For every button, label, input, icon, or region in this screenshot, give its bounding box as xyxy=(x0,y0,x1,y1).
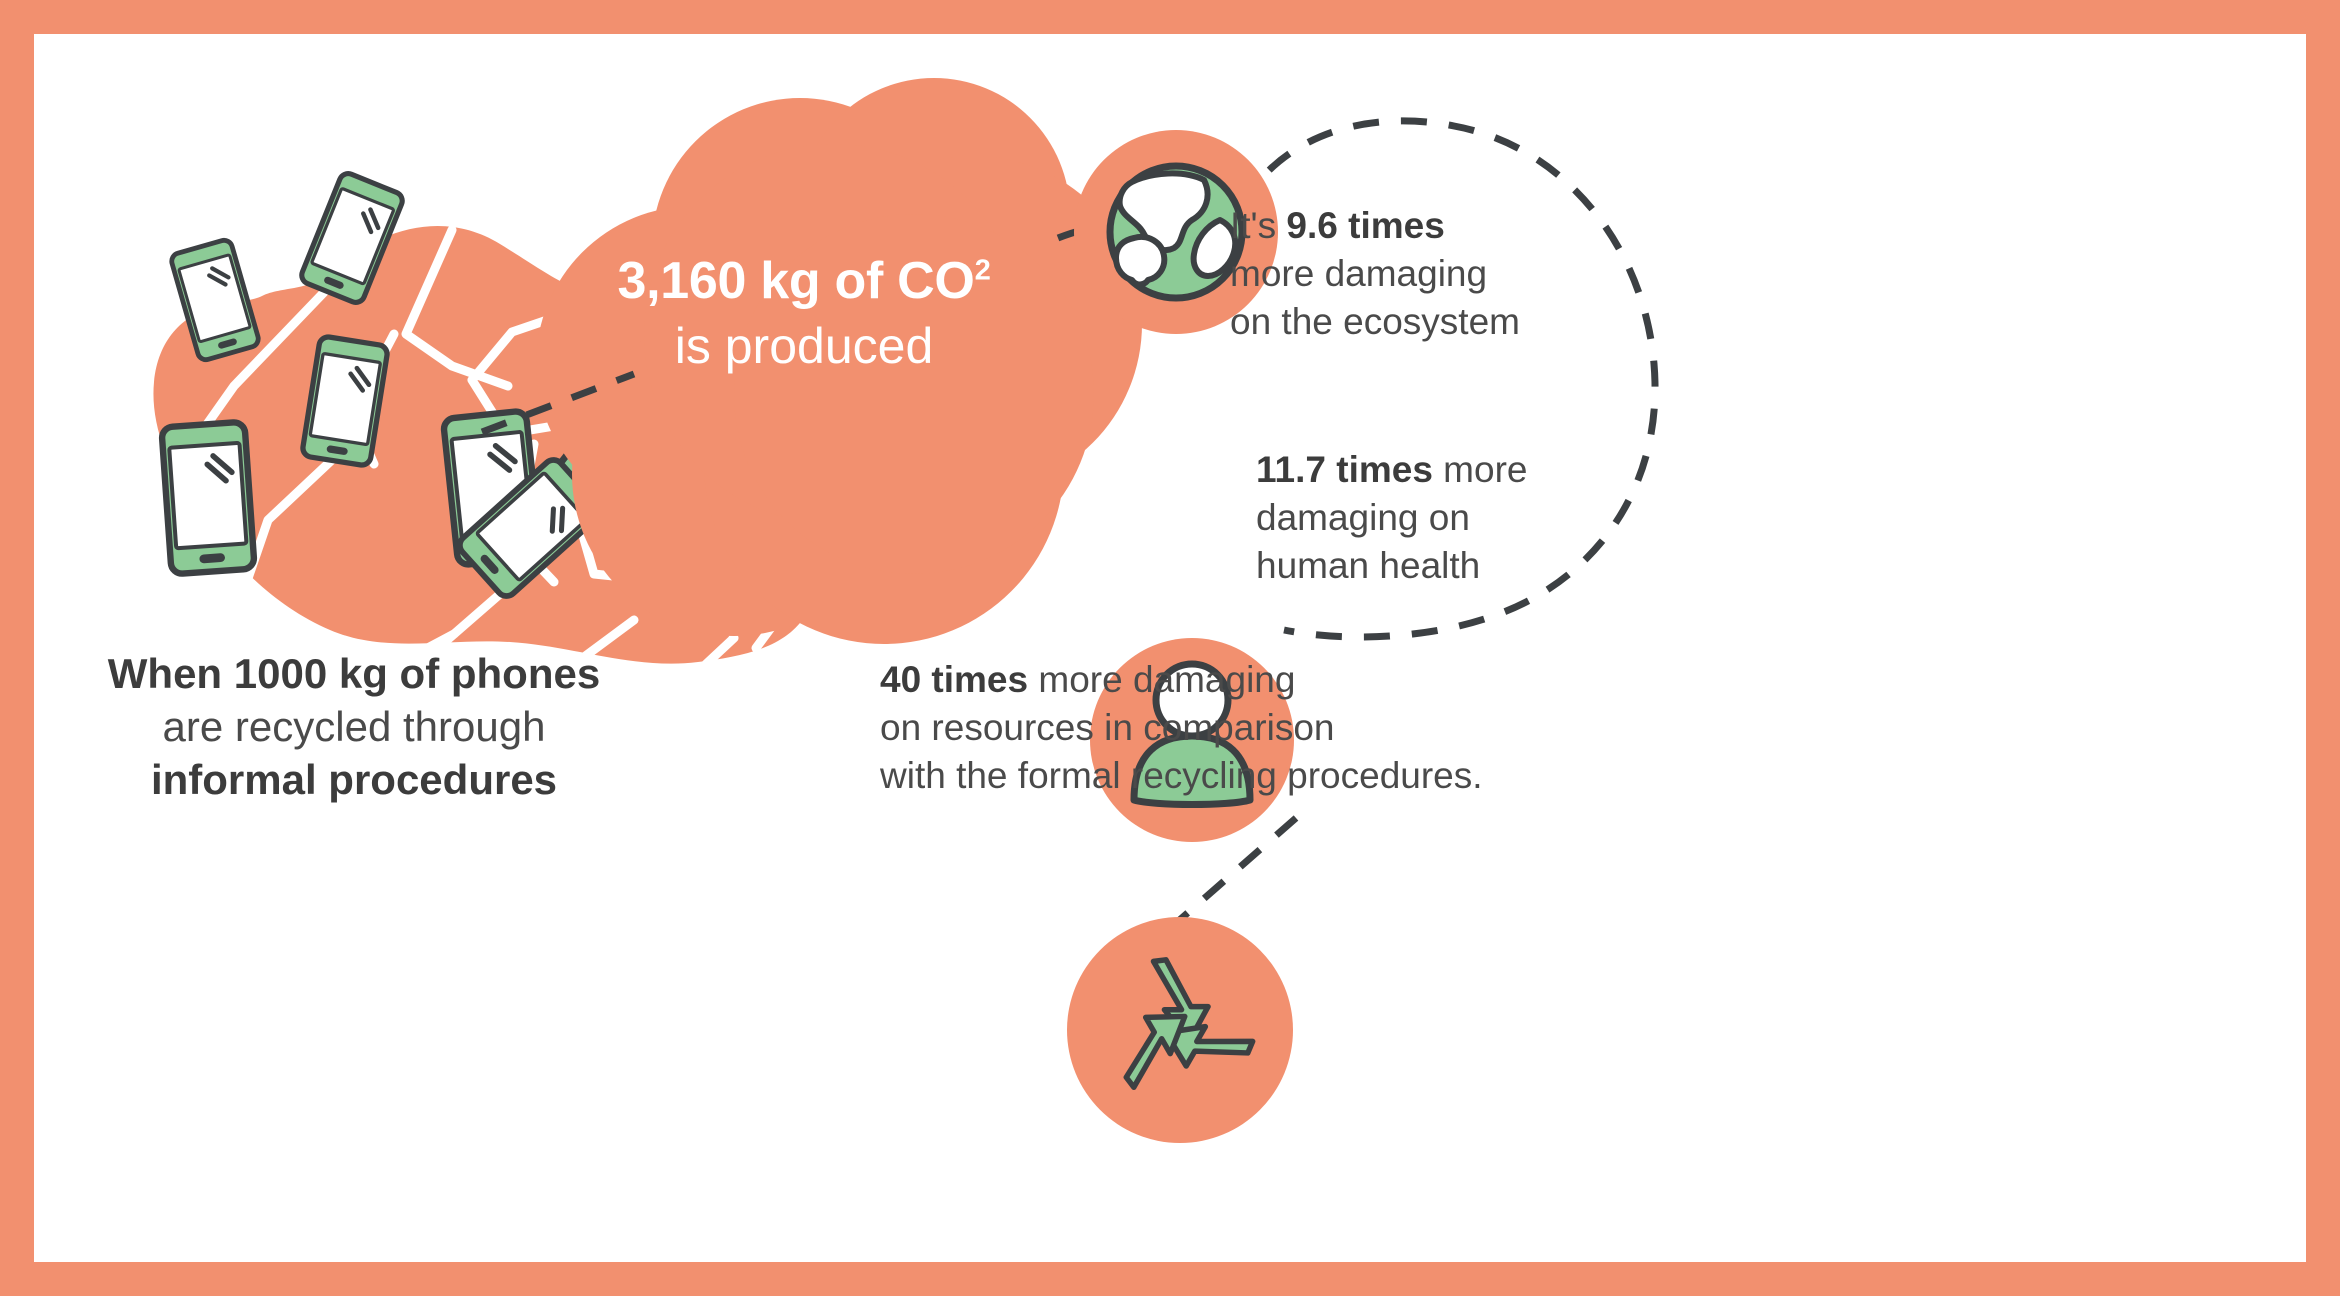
callout-ecosystem: It's 9.6 times more damaging on the ecos… xyxy=(1230,202,1710,346)
pile-caption-line1: When 1000 kg of phones xyxy=(108,650,600,697)
callout-human-health-line1-rest: more xyxy=(1433,449,1528,490)
cloud-text-block: 3,160 kg of CO2 is produced xyxy=(554,252,1054,374)
callout-human-health-line2: damaging on xyxy=(1256,497,1470,538)
pile-caption-line2: are recycled through xyxy=(163,703,546,750)
pile-caption: When 1000 kg of phones are recycled thro… xyxy=(74,648,634,807)
co2-subline: is produced xyxy=(554,318,1054,374)
callout-resources-line1-rest: more damaging xyxy=(1028,659,1295,700)
callout-resources-value: 40 times xyxy=(880,659,1028,700)
callout-ecosystem-value: 9.6 times xyxy=(1286,205,1444,246)
callout-ecosystem-line3: on the ecosystem xyxy=(1230,301,1520,342)
callout-human-health-line3: human health xyxy=(1256,545,1480,586)
callout-resources-line2: on resources in comparison xyxy=(880,707,1335,748)
recycle-icon-badge xyxy=(1067,917,1293,1143)
pile-caption-line3: informal procedures xyxy=(151,756,557,803)
smartphone-icon xyxy=(161,422,254,575)
callout-resources: 40 times more damaging on resources in c… xyxy=(880,656,1580,800)
callout-ecosystem-line2: more damaging xyxy=(1230,253,1487,294)
callout-resources-line3: with the formal recycling procedures. xyxy=(880,755,1483,796)
callout-human-health: 11.7 times more damaging on human health xyxy=(1256,446,1716,590)
co2-headline-text: 3,160 kg of CO xyxy=(618,252,975,310)
co2-superscript: 2 xyxy=(975,255,991,287)
callout-human-health-value: 11.7 times xyxy=(1256,449,1433,490)
infographic-canvas: 3,160 kg of CO2 is produced It's 9.6 tim… xyxy=(34,34,2306,1262)
infographic-frame: 3,160 kg of CO2 is produced It's 9.6 tim… xyxy=(0,0,2340,1296)
co2-headline: 3,160 kg of CO2 xyxy=(554,252,1054,310)
callout-ecosystem-prefix: It's xyxy=(1230,205,1286,246)
